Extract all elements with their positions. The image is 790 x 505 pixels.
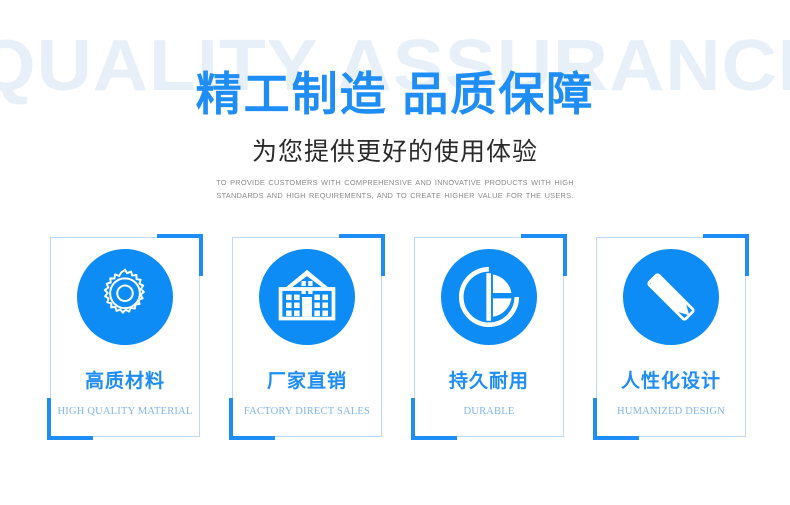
- icon-badge: [441, 249, 537, 345]
- gear-icon: [94, 266, 156, 328]
- page-title: 精工制造 品质保障: [0, 66, 790, 122]
- feature-subtitle: DURABLE: [414, 405, 564, 419]
- icon-badge: [259, 249, 355, 345]
- pen-and-ruler-icon: [637, 263, 705, 331]
- pie-chart-icon: [456, 264, 522, 330]
- page-description: TO PROVIDE CUSTOMERS WITH COMPREHENSIVE …: [195, 176, 595, 202]
- icon-badge: [77, 249, 173, 345]
- feature-card-list: 高质材料 HIGH QUALITY MATERIAL: [0, 237, 790, 442]
- promo-banner: QUALITY ASSURANCE 精工制造 品质保障 为您提供更好的使用体验 …: [0, 0, 790, 505]
- icon-badge: [623, 249, 719, 345]
- feature-card-factory-direct-sales[interactable]: 厂家直销 FACTORY DIRECT SALES: [232, 237, 382, 437]
- feature-subtitle: FACTORY DIRECT SALES: [232, 405, 382, 419]
- feature-title: 持久耐用: [414, 369, 564, 395]
- feature-title: 厂家直销: [232, 369, 382, 395]
- feature-card-high-quality-material[interactable]: 高质材料 HIGH QUALITY MATERIAL: [50, 237, 200, 437]
- feature-title: 高质材料: [50, 369, 200, 395]
- factory-building-icon: [275, 267, 339, 327]
- feature-card-humanized-design[interactable]: 人性化设计 HUMANIZED DESIGN: [596, 237, 746, 437]
- feature-subtitle: HIGH QUALITY MATERIAL: [50, 405, 200, 419]
- feature-subtitle: HUMANIZED DESIGN: [596, 405, 746, 419]
- page-subtitle: 为您提供更好的使用体验: [0, 136, 790, 168]
- feature-title: 人性化设计: [596, 369, 746, 395]
- feature-card-durable[interactable]: 持久耐用 DURABLE: [414, 237, 564, 437]
